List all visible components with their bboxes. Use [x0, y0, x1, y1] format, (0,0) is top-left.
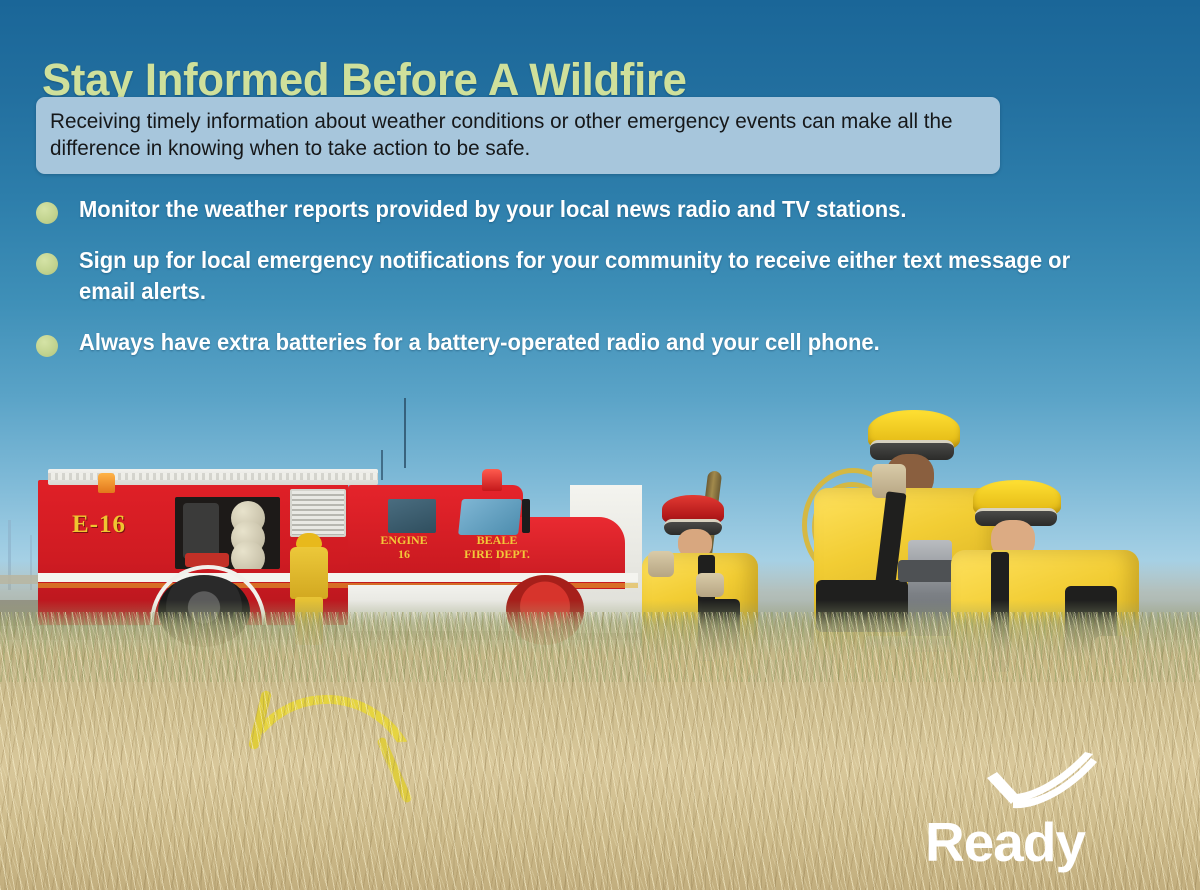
glove-icon — [696, 573, 724, 597]
truck-equipment-compartment — [175, 497, 280, 569]
list-item: Sign up for local emergency notification… — [36, 245, 1166, 307]
wildfire-infographic-poster: E-16 ENGINE 16 BEALE FIRE DEPT. — [0, 0, 1200, 890]
truck-side-mirror-icon — [522, 499, 530, 533]
bullet-dot-icon — [36, 202, 58, 224]
truck-unit-number: E-16 — [72, 511, 126, 539]
ready-logo: Ready — [925, 752, 1105, 872]
yellow-helmet-icon — [296, 533, 322, 548]
intro-caption-text: Receiving timely information about weath… — [50, 108, 972, 162]
truck-side-window — [388, 499, 436, 533]
stowed-gear — [183, 503, 219, 559]
bullet-dot-icon — [36, 253, 58, 275]
list-item: Always have extra batteries for a batter… — [36, 327, 1166, 358]
ready-wordmark: Ready — [925, 815, 1085, 870]
truck-department-label: BEALE FIRE DEPT. — [454, 533, 540, 561]
ready-swoosh-checkmark-icon — [983, 752, 1099, 812]
truck-department-label-line2: FIRE DEPT. — [464, 547, 530, 561]
truck-engine-label-line1: ENGINE — [380, 533, 427, 547]
truck-engine-label: ENGINE 16 — [364, 533, 444, 561]
list-item-label: Always have extra batteries for a batter… — [79, 327, 880, 358]
amber-beacon-icon — [98, 473, 115, 493]
truck-engine-label-line2: 16 — [398, 547, 410, 561]
tips-bullet-list: Monitor the weather reports provided by … — [36, 194, 1166, 378]
list-item: Monitor the weather reports provided by … — [36, 194, 1166, 225]
turnout-coat — [290, 547, 328, 599]
truck-windshield — [458, 499, 522, 535]
truck-department-label-line1: BEALE — [477, 533, 518, 547]
glove-icon — [648, 551, 674, 577]
air-tank-icon — [231, 541, 265, 569]
list-item-label: Monitor the weather reports provided by … — [79, 194, 906, 225]
list-item-label: Sign up for local emergency notification… — [79, 245, 1117, 307]
intro-caption-box: Receiving timely information about weath… — [36, 97, 1000, 174]
truck-side-grille — [290, 489, 346, 537]
bullet-dot-icon — [36, 335, 58, 357]
red-beacon-icon — [482, 469, 502, 491]
